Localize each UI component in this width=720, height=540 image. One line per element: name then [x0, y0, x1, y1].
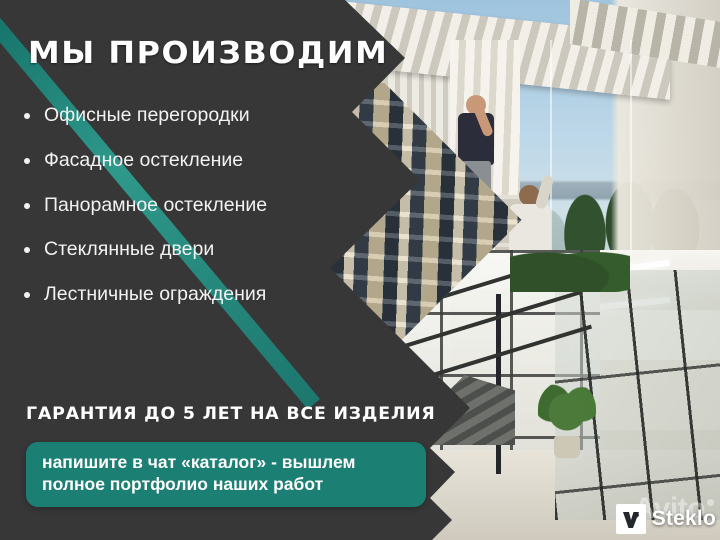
list-item: Стеклянные двери: [20, 239, 340, 261]
plant-pot: [554, 436, 580, 458]
v-monogram-icon: [616, 504, 646, 534]
brand-name: Steklo: [652, 507, 716, 531]
services-list: Офисные перегородки Фасадное остекление …: [20, 105, 340, 329]
list-item: Фасадное остекление: [20, 150, 340, 172]
plant-leaves: [538, 380, 596, 438]
list-item: Лестничные ограждения: [20, 284, 340, 306]
advertisement-banner: МЫ ПРОИЗВОДИМ Офисные перегородки Фасадн…: [0, 0, 720, 540]
worker-raised-arm: [535, 174, 555, 210]
guarantee-text: ГАРАНТИЯ ДО 5 ЛЕТ НА ВСЕ ИЗДЕЛИЯ: [26, 404, 436, 424]
potted-plant-icon: [538, 380, 596, 460]
page-title: МЫ ПРОИЗВОДИМ: [28, 36, 388, 71]
outdoor-trees: [510, 250, 630, 292]
list-item: Панорамное остекление: [20, 195, 340, 217]
cta-line-2: полное портфолио наших работ: [42, 474, 412, 496]
list-item: Офисные перегородки: [20, 105, 340, 127]
door-frame: [496, 294, 501, 474]
cta-banner[interactable]: напишите в чат «каталог» - вышлем полное…: [26, 442, 426, 507]
cta-line-1: напишите в чат «каталог» - вышлем: [42, 452, 355, 472]
brand-logo: Steklo: [616, 504, 716, 534]
